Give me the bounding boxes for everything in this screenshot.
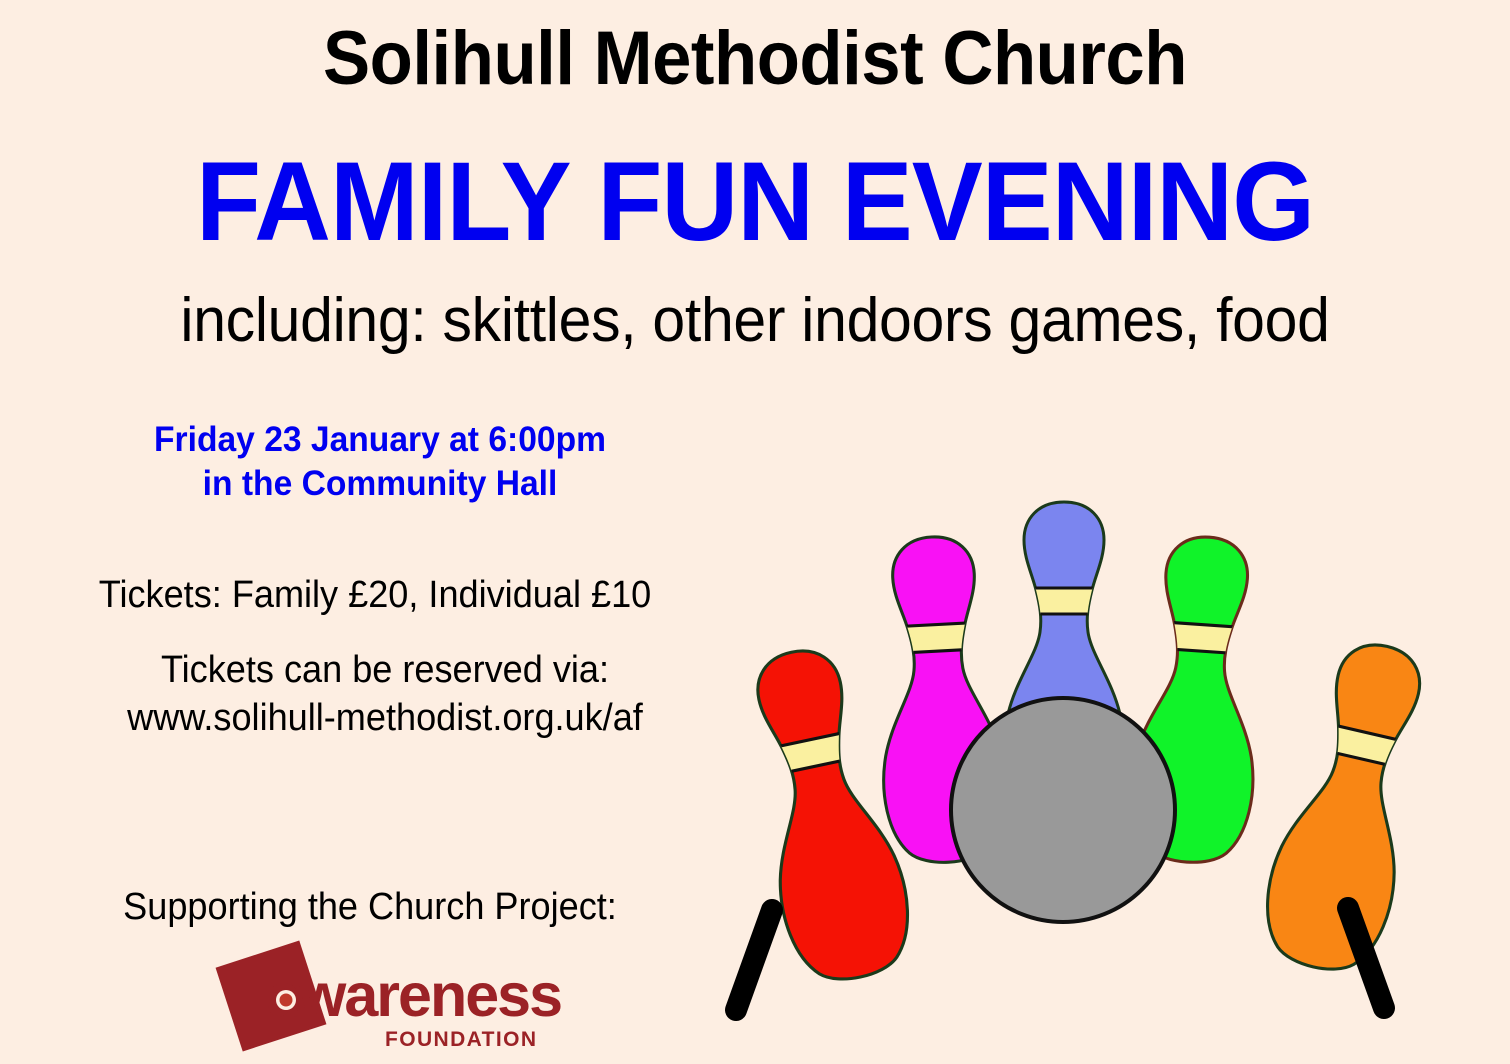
datetime-line-2: in the Community Hall (54, 462, 707, 506)
logo-a-inner-mark (280, 994, 293, 1007)
motion-mark-left (736, 910, 772, 1010)
logo-subtext: FOUNDATION (385, 1028, 537, 1051)
event-title: FAMILY FUN EVENING (38, 142, 1473, 262)
datetime-block: Friday 23 January at 6:00pm in the Commu… (54, 418, 707, 506)
ticket-reserve-label: Tickets can be reserved via: (38, 646, 732, 694)
poster-canvas: Solihull Methodist Church FAMILY FUN EVE… (0, 0, 1510, 1064)
church-title: Solihull Methodist Church (53, 18, 1457, 100)
ticket-reserve-block: Tickets can be reserved via: www.solihul… (38, 646, 732, 742)
event-subtitle: including: skittles, other indoors games… (38, 286, 1473, 356)
supporting-project-label: Supporting the Church Project: (38, 884, 703, 930)
ticket-price-line: Tickets: Family £20, Individual £10 (38, 572, 713, 618)
bowling-ball (951, 698, 1175, 922)
ticket-reserve-url[interactable]: www.solihull-methodist.org.uk/af (38, 694, 732, 742)
logo-wordmark: awareness (267, 961, 561, 1029)
datetime-line-1: Friday 23 January at 6:00pm (54, 418, 707, 462)
bowling-illustration (716, 370, 1510, 1064)
awareness-foundation-logo: awareness FOUNDATION (205, 938, 595, 1058)
